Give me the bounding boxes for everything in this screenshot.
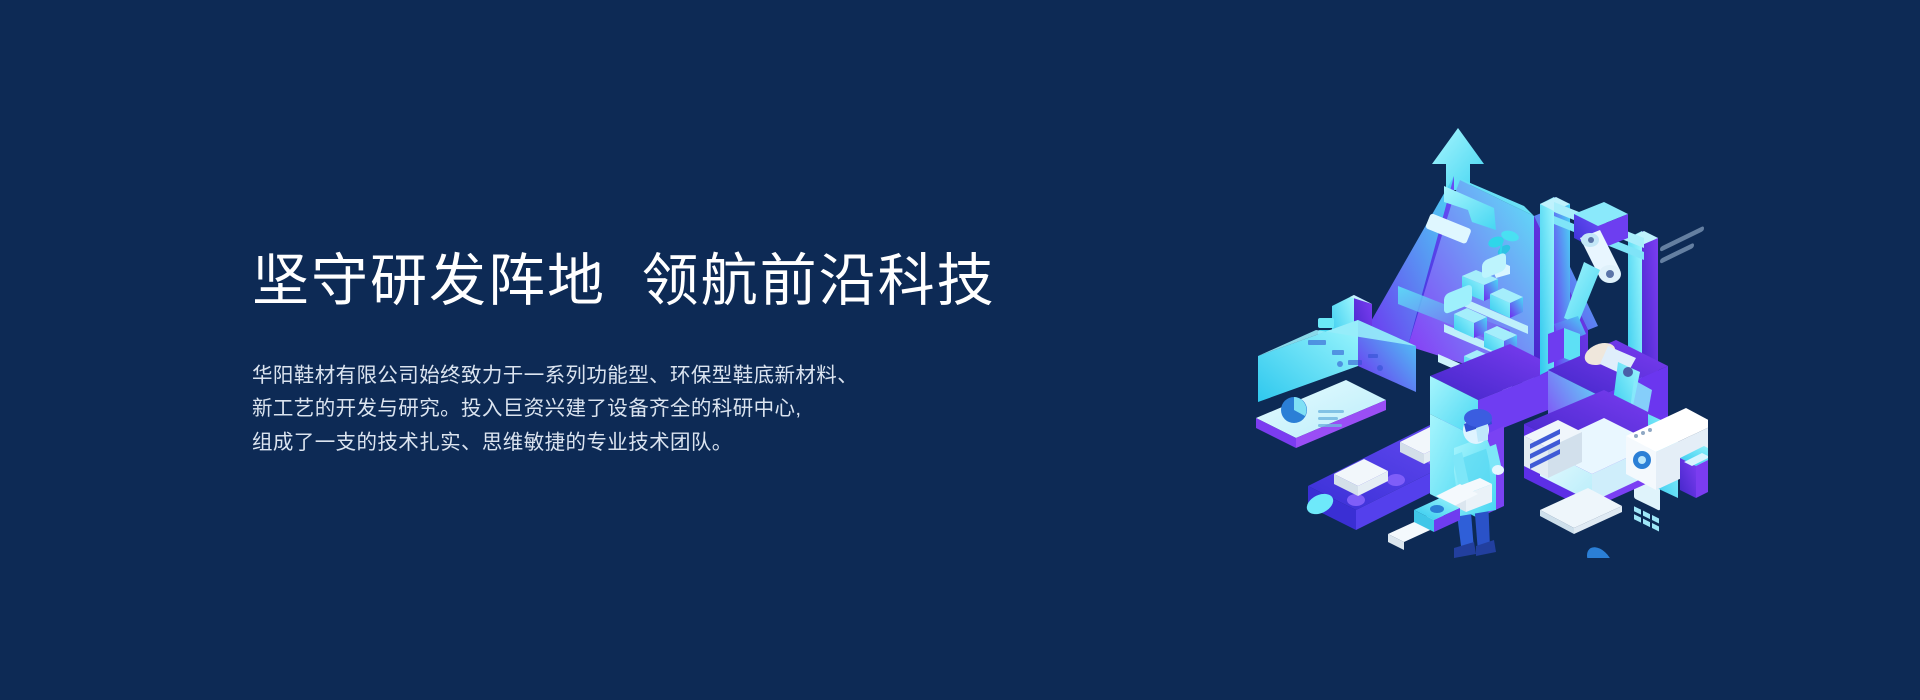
isometric-illustration bbox=[1248, 118, 1708, 558]
description-line: 华阳鞋材有限公司始终致力于一系列功能型、环保型鞋底新材料、 bbox=[252, 359, 1132, 392]
page-title: 坚守研发阵地 领航前沿科技 bbox=[252, 248, 1132, 315]
pie-chart-icon bbox=[1281, 397, 1307, 423]
hero-text-block: 坚守研发阵地 领航前沿科技 华阳鞋材有限公司始终致力于一系列功能型、环保型鞋底新… bbox=[252, 248, 1132, 459]
control-panel-keypad bbox=[1634, 506, 1659, 531]
up-arrow-icon bbox=[1432, 128, 1484, 190]
description-line: 新工艺的开发与研究。投入巨资兴建了设备齐全的科研中心, bbox=[252, 392, 1132, 425]
hero-banner: 坚守研发阵地 领航前沿科技 华阳鞋材有限公司始终致力于一系列功能型、环保型鞋底新… bbox=[0, 0, 1920, 700]
description-line: 组成了一支的技术扎实、思维敏捷的专业技术团队。 bbox=[252, 426, 1132, 459]
pie-chart-widget bbox=[1587, 542, 1613, 558]
watch-screen-dot bbox=[1430, 505, 1444, 513]
hero-description: 华阳鞋材有限公司始终致力于一系列功能型、环保型鞋底新材料、 新工艺的开发与研究。… bbox=[252, 359, 1132, 459]
